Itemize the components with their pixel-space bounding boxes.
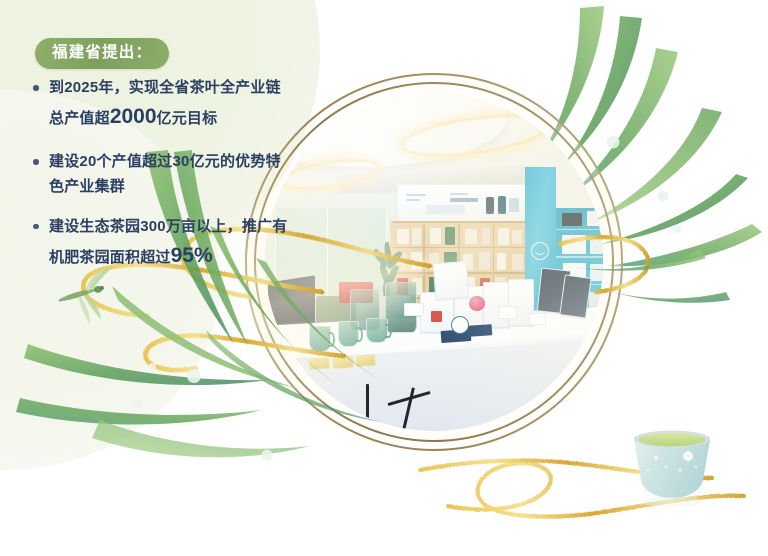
frame-ring-inner (254, 82, 614, 442)
section-badge: 福建省提出： (35, 38, 169, 69)
list-item: 建设生态茶园300万亩以上，推广有机肥茶园面积超过95% (30, 215, 290, 273)
bullet-text: 建设生态茶园300万亩以上，推广有机肥茶园面积超过 (49, 218, 287, 266)
infographic-canvas: 福建省提出： 到2025年，实现全省茶叶全产业链总产值超2000亿元目标 建设2… (0, 0, 768, 556)
circular-photo-frame (245, 73, 623, 451)
bullet-list: 到2025年，实现全省茶叶全产业链总产值超2000亿元目标 建设20个产值超过3… (30, 76, 290, 289)
bullet-highlight: 95% (171, 244, 213, 267)
bullet-dot-icon (33, 159, 39, 165)
list-item: 建设20个产值超过30亿元的优势特色产业集群 (30, 150, 290, 199)
bullet-text-tail: 亿元目标 (157, 110, 218, 127)
bullet-dot-icon (33, 85, 39, 91)
text-panel: 福建省提出： 到2025年，实现全省茶叶全产业链总产值超2000亿元目标 建设2… (0, 0, 300, 270)
celadon-teacup (624, 418, 720, 528)
bullet-dot-icon (33, 224, 39, 230)
list-item: 到2025年，实现全省茶叶全产业链总产值超2000亿元目标 (30, 76, 290, 134)
bullet-text: 建设20个产值超过30亿元的优势特色产业集群 (49, 153, 281, 194)
bullet-highlight: 2000 (110, 105, 157, 128)
